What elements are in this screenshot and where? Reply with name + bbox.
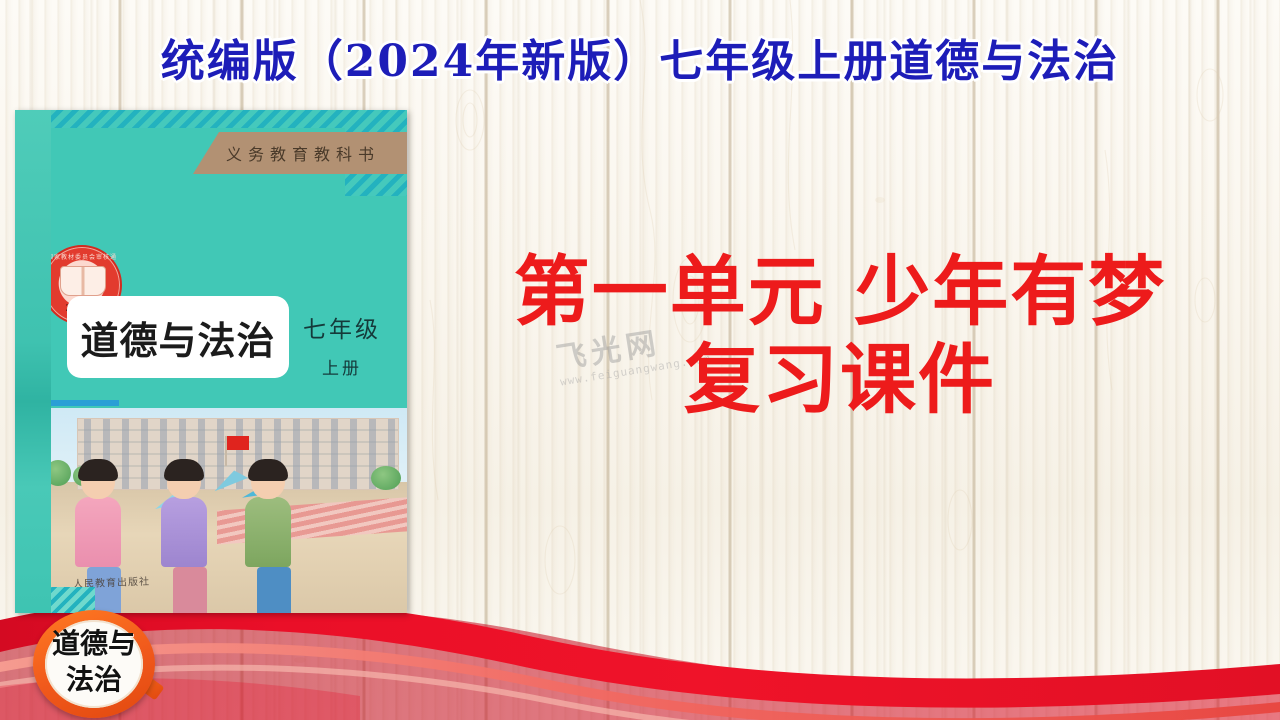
tree-icon (371, 466, 401, 490)
national-flag-icon (227, 436, 249, 450)
child-body (245, 497, 291, 567)
cover-volume-text: 上册 (303, 354, 381, 379)
child-hair (164, 459, 204, 481)
cover-title-plate: 道德与法治 (67, 296, 289, 378)
badge-label-line-1: 道德与 (33, 626, 155, 662)
badge-label: 道德与 法治 (33, 626, 155, 698)
cover-spine (15, 110, 51, 613)
child-figure (167, 463, 207, 613)
cover-grade-text: 七年级 (303, 310, 381, 344)
child-figure (251, 463, 291, 613)
main-title-block: 第一单元 少年有梦 复习课件 (430, 248, 1250, 424)
open-book-icon (60, 266, 106, 296)
child-body (75, 497, 121, 567)
magnifier-badge: 道德与 法治 (33, 610, 155, 718)
slide-header-title: 统编版（2024年新版）七年级上册道德与法治 (0, 34, 1280, 90)
cover-title-text: 道德与法治 (80, 310, 275, 365)
cover-series-banner-text: 义务教育教科书 (220, 141, 380, 165)
main-title-line-1: 第一单元 少年有梦 (430, 248, 1250, 336)
child-legs (257, 567, 291, 613)
textbook-cover-image: 义务教育教科书 国家教材委员会审核通过 2024 道德与法治 七年级 上册 (15, 110, 407, 613)
presentation-slide: 统编版（2024年新版）七年级上册道德与法治 义务教育教科书 国家教材委员会审核… (0, 0, 1280, 720)
cover-grade-block: 七年级 上册 (303, 310, 381, 379)
child-head (251, 463, 285, 499)
cover-series-banner: 义务教育教科书 (193, 132, 407, 174)
child-head (167, 463, 201, 499)
badge-label-line-2: 法治 (33, 662, 155, 698)
child-body (161, 497, 207, 567)
main-title-line-2: 复习课件 (430, 336, 1250, 424)
child-hair (248, 459, 288, 481)
child-legs (173, 567, 207, 613)
